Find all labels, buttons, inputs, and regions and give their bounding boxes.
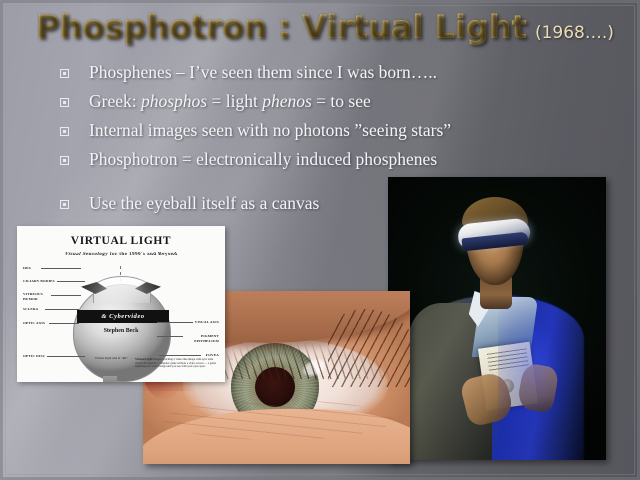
leader-line bbox=[45, 309, 79, 310]
book-cover-band: & Cybervideo bbox=[77, 310, 169, 323]
book-cover-footnote: Virtual Light Images watching a video-li… bbox=[135, 358, 221, 369]
eye-lower-lid-creases bbox=[163, 400, 393, 440]
man-wearing-phosphotron-goggles-photo bbox=[388, 177, 606, 460]
leader-line bbox=[41, 268, 81, 269]
square-bullet-icon bbox=[60, 69, 69, 78]
book-cover-signature: Virtual Light and in ”Re” bbox=[95, 356, 133, 361]
bullet-text: Greek: phosphos = light phenos = to see bbox=[89, 91, 371, 112]
list-item: Phosphotron = electronically induced pho… bbox=[60, 149, 480, 171]
leader-line bbox=[159, 355, 201, 356]
square-bullet-icon bbox=[60, 127, 69, 136]
diagram-label-optic-axis: OPTIC AXIS bbox=[23, 321, 45, 326]
diagram-label-vitreous-humor: VITREOUS HUMOR bbox=[23, 292, 49, 301]
square-bullet-icon bbox=[60, 200, 69, 209]
eye-outer-lashes bbox=[328, 309, 410, 387]
diagram-label-sclera: SCLERA bbox=[23, 307, 38, 312]
leader-line bbox=[49, 323, 79, 324]
book-title: VIRTUAL LIGHT bbox=[17, 235, 225, 247]
leader-line bbox=[157, 336, 183, 337]
book-subtitle: Visual Sensology for the 1990's and Beyo… bbox=[17, 251, 225, 256]
list-item: Phosphenes – I’ve seen them since I was … bbox=[60, 62, 480, 84]
diagram-label-optic-disc: OPTIC DISC bbox=[23, 354, 45, 359]
leader-line bbox=[47, 356, 85, 357]
title-year-range: (1968….) bbox=[535, 23, 614, 43]
presentation-slide: Phosphotron : Virtual Light(1968….) Phos… bbox=[0, 0, 640, 480]
diagram-label-visual-axis: VISUAL AXIS bbox=[195, 320, 219, 325]
list-item: Internal images seen with no photons ”se… bbox=[60, 120, 480, 142]
square-bullet-icon bbox=[60, 156, 69, 165]
leader-line bbox=[157, 322, 193, 323]
diagram-label-pigment-epithelium: PIGMENT EPITHELIUM bbox=[185, 334, 219, 343]
slide-title-block: Phosphotron : Virtual Light(1968….) bbox=[36, 8, 620, 58]
eyeball-diagram-optic-nerve bbox=[103, 376, 117, 382]
bullet-text: Use the eyeball itself as a canvas bbox=[89, 193, 319, 214]
bullet-text: Phosphenes – I’ve seen them since I was … bbox=[89, 62, 437, 83]
leader-line bbox=[57, 281, 85, 282]
leader-line bbox=[51, 295, 81, 296]
virtual-light-book-cover-image: VIRTUAL LIGHT Visual Sensology for the 1… bbox=[17, 226, 225, 382]
diagram-label-iris: IRIS bbox=[23, 266, 31, 271]
square-bullet-icon bbox=[60, 98, 69, 107]
page-title: Phosphotron : Virtual Light bbox=[36, 8, 527, 46]
bullet-text: Internal images seen with no photons ”se… bbox=[89, 120, 451, 141]
list-item: Greek: phosphos = light phenos = to see bbox=[60, 91, 480, 113]
diagram-label-ciliary-bodies: CILIARY BODIES bbox=[23, 279, 55, 284]
bullet-text: Phosphotron = electronically induced pho… bbox=[89, 149, 437, 170]
book-band-text: & Cybervideo bbox=[101, 313, 144, 320]
